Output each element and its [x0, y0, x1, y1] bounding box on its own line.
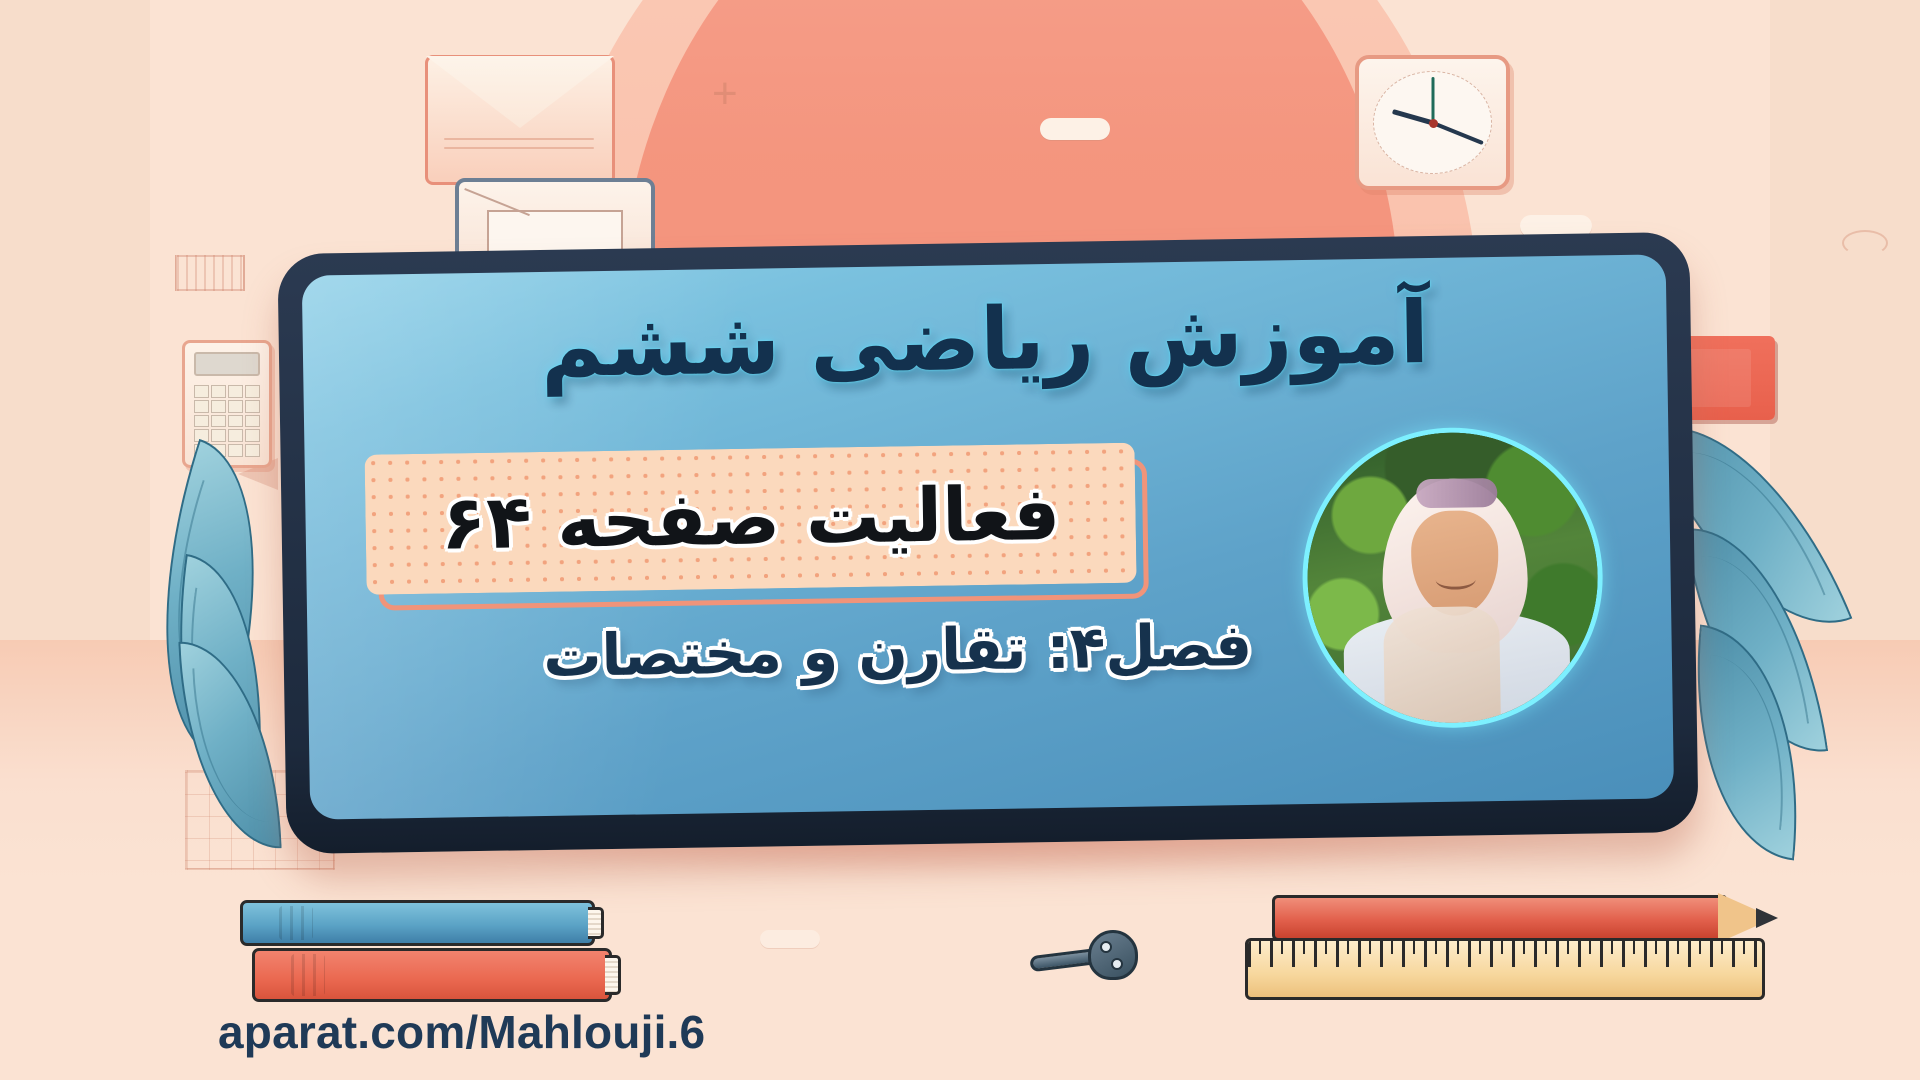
activity-badge-box: فعالیت صفحه ۶۴ [365, 443, 1137, 595]
clock-minute-hand [1432, 121, 1484, 145]
slide-canvas: + [0, 0, 1920, 1080]
avatar [1300, 425, 1605, 730]
ruler-icon [1245, 938, 1765, 1000]
activity-badge-label: فعالیت صفحه ۶۴ [440, 471, 1060, 567]
book-blue [240, 900, 595, 946]
book-binding [279, 906, 313, 940]
clock-icon [1355, 55, 1510, 190]
clock-second-hand [1431, 77, 1434, 123]
clock-center-pin [1429, 119, 1438, 128]
book-red [252, 948, 612, 1002]
cloud-icon [760, 930, 820, 948]
blueprint-ruler-doodle [175, 255, 245, 291]
pencil-lead [1756, 908, 1778, 928]
calculator-display [194, 352, 260, 376]
plus-mark: + [712, 80, 746, 114]
paperclip-head [1088, 930, 1138, 980]
envelope-lines [444, 138, 594, 164]
envelope-icon [425, 55, 615, 185]
book-pages [588, 907, 604, 939]
paperclip-icon [1030, 930, 1138, 980]
avatar-sunglasses [1416, 478, 1498, 508]
spiral-doodle [1842, 230, 1888, 256]
book-binding [291, 954, 325, 996]
channel-url[interactable]: aparat.com/Mahlouji.6 [218, 1005, 705, 1059]
avatar-smile [1435, 569, 1476, 590]
cloud-icon [1040, 118, 1110, 140]
clock-hour-hand [1391, 109, 1433, 125]
tablet-screen: آموزش ریاضی ششم فعالیت صفحه ۶۴ فصل۴: تقا… [302, 254, 1674, 819]
avatar-scarf [1383, 606, 1501, 730]
chapter-subtitle: فصل۴: تقارن و مختصات [397, 609, 1398, 693]
tablet-device: آموزش ریاضی ششم فعالیت صفحه ۶۴ فصل۴: تقا… [277, 232, 1698, 854]
page-title: آموزش ریاضی ششم [302, 278, 1667, 403]
envelope-flap [426, 56, 614, 128]
ruler-minor-ticks [1259, 941, 1765, 954]
clock-face [1373, 71, 1492, 174]
pencil-icon [1272, 895, 1727, 941]
activity-badge: فعالیت صفحه ۶۴ [365, 443, 1137, 595]
book-pages [605, 955, 621, 995]
